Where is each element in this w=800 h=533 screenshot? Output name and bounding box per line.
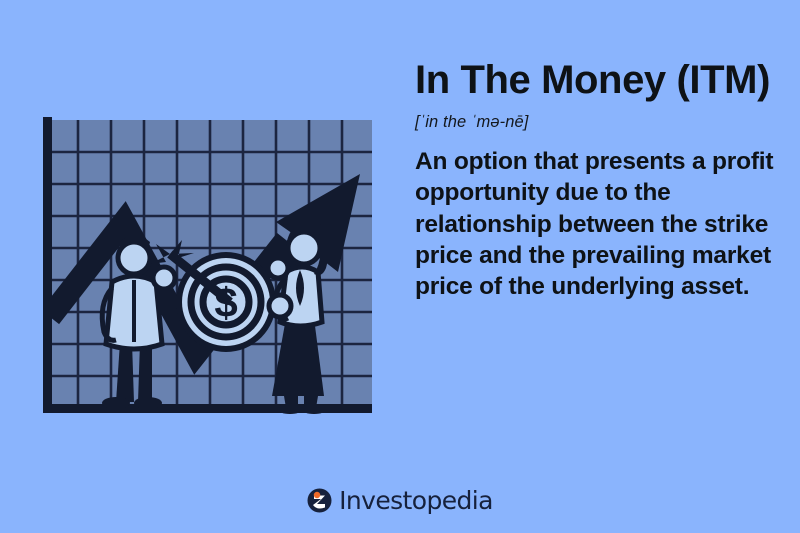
investopedia-mark-icon — [307, 488, 332, 513]
definition-text: An option that presents a profit opportu… — [415, 146, 787, 303]
brand-logo: Investopedia — [0, 486, 800, 515]
text-column: In The Money (ITM) [ˈin the ˈmə-nē] An o… — [415, 58, 787, 303]
infographic-card: $ — [0, 0, 800, 533]
pronunciation: [ˈin the ˈmə-nē] — [415, 113, 787, 132]
page-title: In The Money (ITM) — [415, 58, 787, 103]
brand-name: Investopedia — [339, 486, 493, 515]
illustration: $ — [28, 112, 380, 422]
